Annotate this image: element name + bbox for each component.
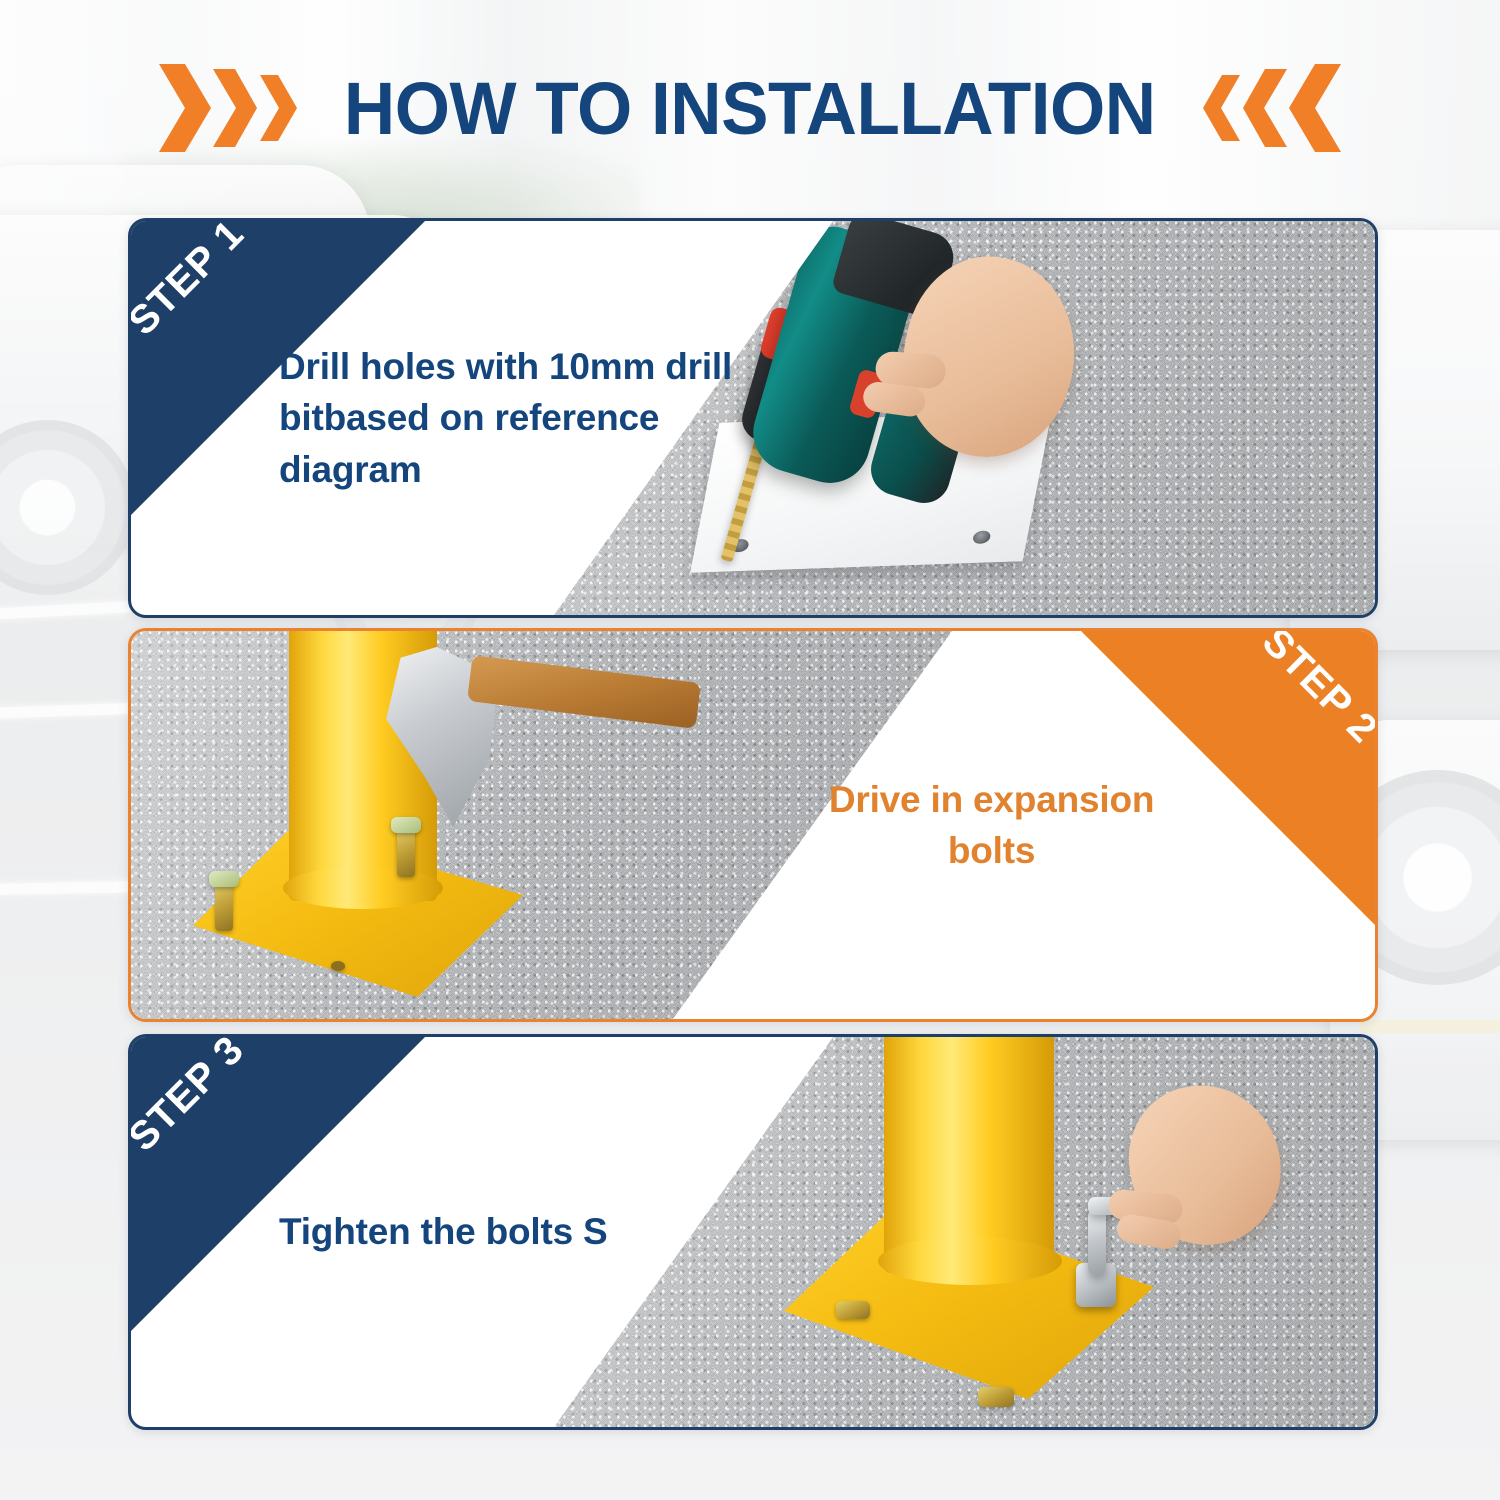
step-panel-1: Drill holes with 10mm drill bitbased on … xyxy=(128,218,1378,618)
chevron-right-icon xyxy=(209,67,261,149)
chevron-right-icon xyxy=(257,73,301,143)
step-panel-2: Drive in expansion bolts STEP 2 xyxy=(128,628,1378,1022)
page-title: HOW TO INSTALLATION xyxy=(344,66,1156,151)
step-3-text: Tighten the bolts S xyxy=(279,1206,608,1257)
chevron-left-icon xyxy=(1287,62,1345,154)
expansion-bolt-left xyxy=(215,881,233,931)
step-2-content: Drive in expansion bolts xyxy=(728,631,1375,1019)
expansion-bolt-right-head xyxy=(391,817,421,833)
infographic-page: HOW TO INSTALLATION xyxy=(0,0,1500,1500)
background-kerb xyxy=(1360,1020,1500,1033)
expansion-bolt-left-head xyxy=(209,871,239,887)
page-header: HOW TO INSTALLATION xyxy=(0,48,1500,168)
bollard-post-base-fillet xyxy=(283,867,443,909)
chevron-left-icon xyxy=(1239,67,1291,149)
step-1-content: Drill holes with 10mm drill bitbased on … xyxy=(131,221,853,615)
step-2-text: Drive in expansion bolts xyxy=(782,774,1202,876)
step-1-text: Drill holes with 10mm drill bitbased on … xyxy=(279,341,749,494)
plate-hole xyxy=(972,531,992,545)
bollard-post-base-fillet xyxy=(878,1237,1062,1285)
step-panel-3: Tighten the bolts S STEP 3 xyxy=(128,1034,1378,1430)
plate-hole xyxy=(331,961,345,971)
chevron-right-icon-group xyxy=(155,62,301,154)
expansion-bolt-right xyxy=(397,827,415,877)
wrench-shaft xyxy=(1088,1209,1106,1275)
chevron-left-icon xyxy=(1199,73,1243,143)
chevron-left-icon-group xyxy=(1199,62,1345,154)
tightened-bolt-front xyxy=(978,1387,1014,1407)
step-3-content: Tighten the bolts S xyxy=(131,1037,853,1427)
chevron-right-icon xyxy=(155,62,213,154)
